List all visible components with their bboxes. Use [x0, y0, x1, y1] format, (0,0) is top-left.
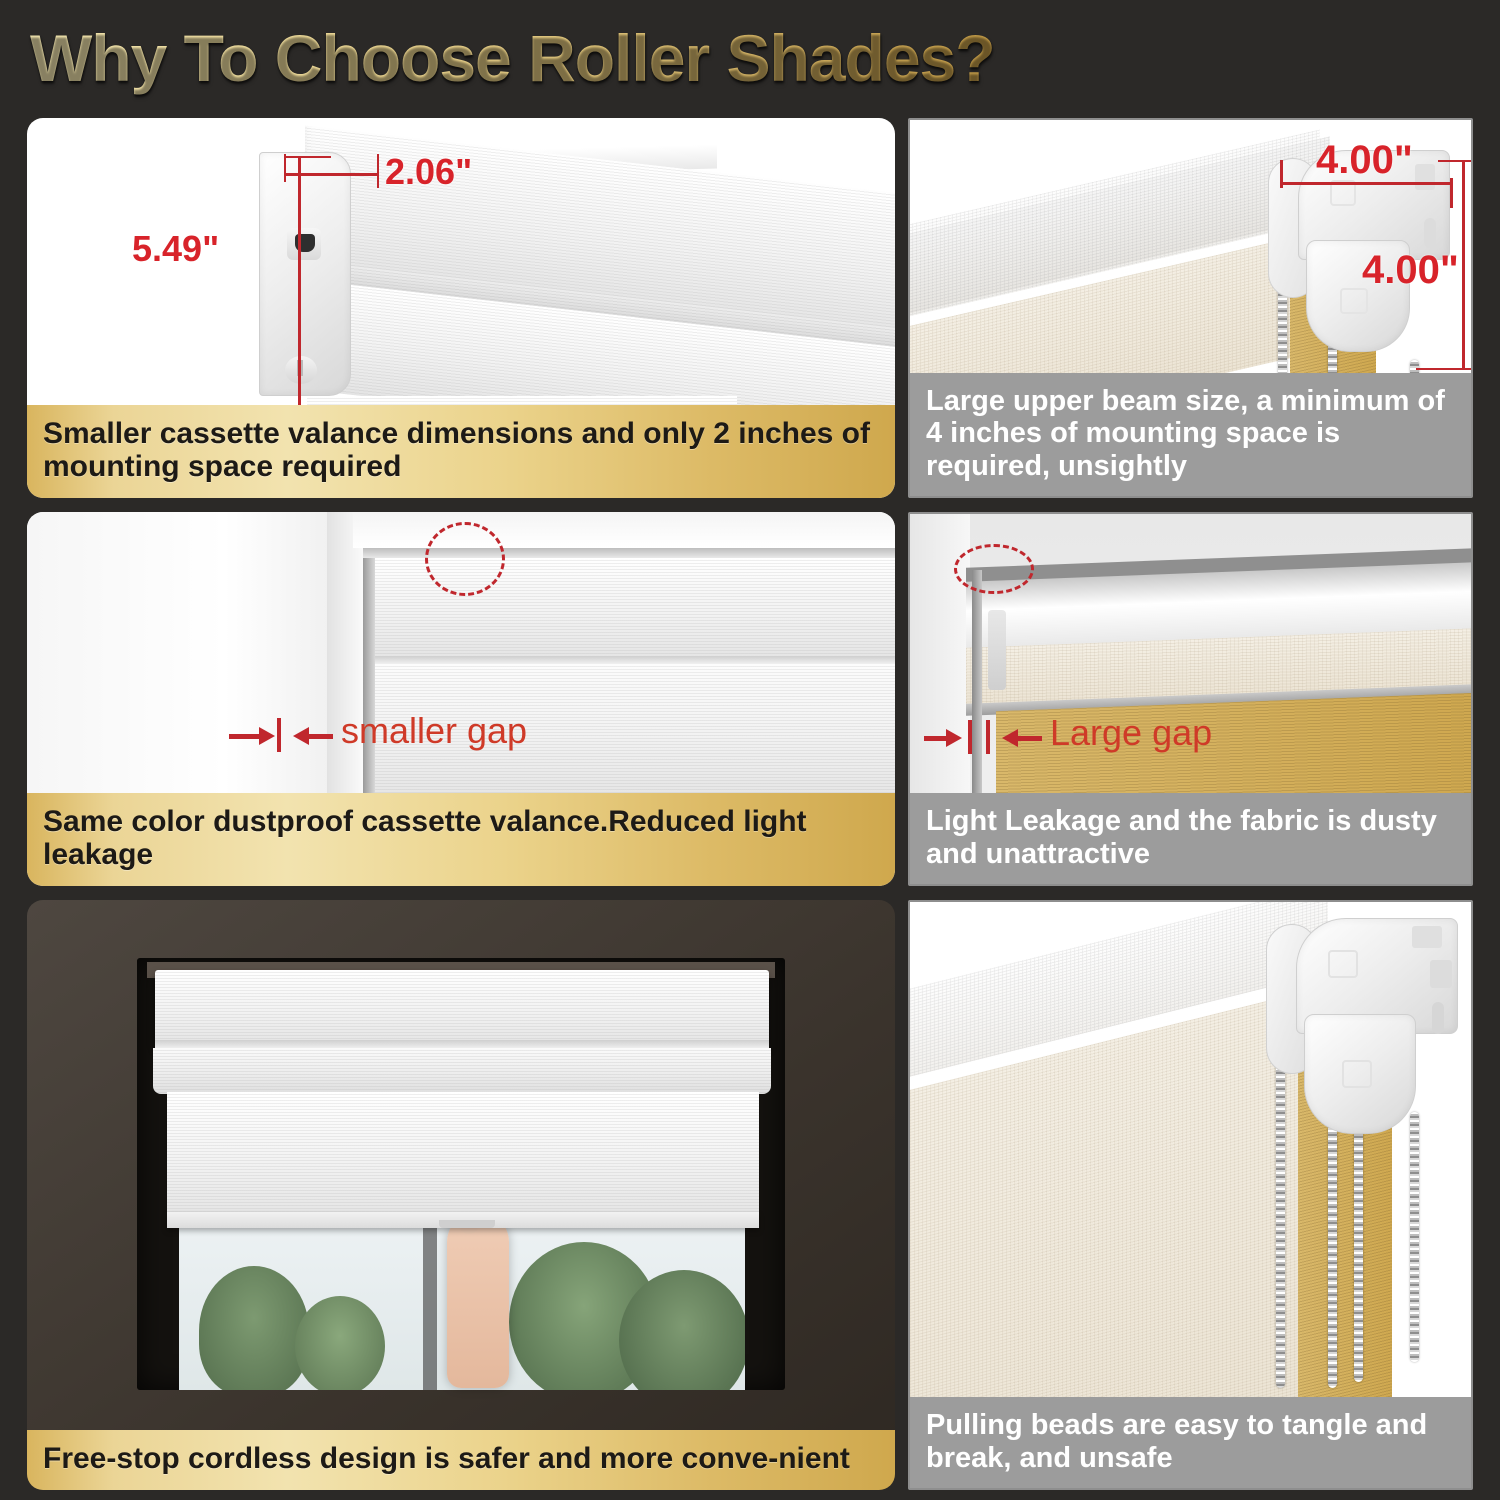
gap-arrow-left-head [946, 729, 962, 747]
panel-pro-cordless-design[interactable]: Free-stop cordless design is safer and m… [27, 900, 895, 1490]
caption-pro-cassette-size: Smaller cassette valance dimensions and … [27, 405, 895, 498]
width-dimension-line-end [377, 154, 379, 188]
gap-arrow-right-shaft [1016, 736, 1042, 741]
gap-marker-bar-1 [968, 720, 972, 754]
panel-con-pulling-beads[interactable]: Pulling beads are easy to tangle and bre… [908, 900, 1473, 1490]
highlight-circle [954, 544, 1034, 594]
height-dimension-tick-top [285, 156, 331, 158]
beam-height-dimension-label: 4.00" [1362, 248, 1459, 293]
panel-pro-dustproof-valance[interactable]: smaller gap Same color dustproof cassett… [27, 512, 895, 886]
gap-arrow-left-shaft [229, 734, 263, 739]
comparison-grid: 2.06" 5.49" Smaller cassette valance dim… [0, 108, 1500, 1500]
valance-header [155, 970, 769, 1046]
hand [447, 1212, 509, 1388]
beam-height-dimension-line [1462, 162, 1465, 370]
beam-width-dimension-label: 4.00" [1316, 138, 1413, 183]
header-bar: Why To Choose Roller Shades? [0, 0, 1500, 108]
panel-con-beam-size[interactable]: 4.00" 4.00" Large upper beam size, a min… [908, 118, 1473, 498]
caption-con-beam-size: Large upper beam size, a minimum of 4 in… [910, 373, 1471, 496]
caption-con-pulling-beads: Pulling beads are easy to tangle and bre… [910, 1397, 1471, 1488]
beam-width-tick-right [1450, 178, 1453, 208]
caption-pro-cordless-design: Free-stop cordless design is safer and m… [27, 1430, 895, 1490]
beam-width-tick-left [1280, 160, 1283, 188]
page-title: Why To Choose Roller Shades? [30, 20, 995, 96]
width-dimension-line [284, 154, 286, 182]
gap-label-smaller: smaller gap [341, 710, 527, 752]
gap-arrow-right-shaft [307, 734, 333, 739]
bead-chain-4 [1410, 1112, 1419, 1362]
caption-pro-dustproof-valance: Same color dustproof cassette valance.Re… [27, 793, 895, 886]
width-dimension-label: 2.06" [385, 151, 472, 193]
gap-arrow-left-head [259, 727, 275, 745]
room-photo-cordless [27, 900, 895, 1490]
gap-marker-bar-2 [986, 720, 990, 754]
beam-height-tick-bottom [1416, 368, 1473, 370]
highlight-circle [425, 522, 505, 596]
height-dimension-label: 5.49" [132, 228, 219, 270]
beam-height-tick-top [1438, 160, 1473, 162]
panel-con-light-leakage[interactable]: Large gap Light Leakage and the fabric i… [908, 512, 1473, 886]
caption-con-light-leakage: Light Leakage and the fabric is dusty an… [910, 793, 1471, 884]
gap-marker-bar [277, 718, 281, 752]
gap-label-large: Large gap [1050, 712, 1212, 754]
shade-fabric [167, 1092, 759, 1220]
panel-pro-cassette-size[interactable]: 2.06" 5.49" Smaller cassette valance dim… [27, 118, 895, 498]
